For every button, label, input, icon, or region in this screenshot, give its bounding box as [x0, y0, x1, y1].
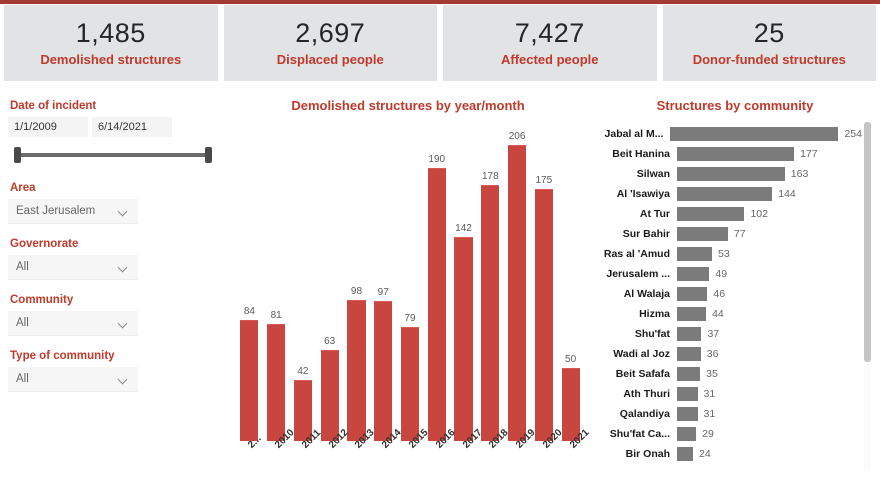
dropdown-type-of-community-value: All: [16, 373, 29, 385]
kpi-row: 1,485 Demolished structures 2,697 Displa…: [0, 5, 880, 81]
bar-value-label: 53: [718, 248, 730, 260]
dropdown-governorate-value: All: [16, 261, 29, 273]
dropdown-type-of-community[interactable]: All: [8, 367, 138, 392]
bar[interactable]: [677, 427, 696, 441]
bar-value-label: 178: [482, 171, 499, 182]
bar-column[interactable]: 206: [508, 131, 526, 441]
bar-value-label: 46: [713, 288, 725, 300]
chart-structures-by-community: Structures by community Jabal al M...254…: [590, 92, 880, 478]
bar-column[interactable]: 81: [267, 310, 285, 441]
community-bar-row[interactable]: Hizma44: [590, 304, 862, 324]
bar-column[interactable]: 42: [294, 366, 312, 441]
community-bar-wrap: 144: [677, 187, 862, 201]
community-bar-row[interactable]: Qalandiya31: [590, 404, 862, 424]
bar[interactable]: [677, 167, 785, 181]
community-name-label: Hizma: [590, 308, 677, 320]
bar[interactable]: [428, 168, 446, 441]
dropdown-area[interactable]: East Jerusalem: [8, 199, 138, 224]
slider-handle-end[interactable]: [205, 147, 212, 163]
bar[interactable]: [481, 185, 499, 441]
community-name-label: Ras al 'Amud: [590, 248, 677, 260]
chevron-down-icon: [118, 206, 129, 217]
chevron-down-icon: [118, 262, 129, 273]
bar-value-label: 190: [428, 154, 445, 165]
kpi-label: Donor-funded structures: [693, 52, 846, 67]
bar-value-label: 31: [704, 408, 716, 420]
bar[interactable]: [677, 147, 794, 161]
filter-group-type-of-community: Type of community All: [8, 350, 218, 392]
community-name-label: Ath Thuri: [590, 388, 677, 400]
filter-label-community: Community: [10, 294, 218, 306]
community-bar-list: Jabal al M...254Beit Hanina177Silwan163A…: [590, 124, 862, 464]
dropdown-community-value: All: [16, 317, 29, 329]
community-bar-row[interactable]: Shu'fat Ca...29: [590, 424, 862, 444]
dropdown-area-value: East Jerusalem: [16, 205, 95, 217]
community-name-label: Beit Hanina: [590, 148, 677, 160]
bar-column[interactable]: 84: [240, 306, 258, 441]
bar-column[interactable]: 79: [401, 313, 419, 441]
filter-group-governorate: Governorate All: [8, 238, 218, 280]
bar[interactable]: [677, 287, 707, 301]
community-bar-wrap: 37: [677, 327, 862, 341]
community-bar-row[interactable]: Ras al 'Amud53: [590, 244, 862, 264]
community-bar-wrap: 31: [677, 387, 862, 401]
community-bar-wrap: 163: [677, 167, 862, 181]
kpi-value: 25: [754, 19, 785, 49]
community-bar-wrap: 77: [677, 227, 862, 241]
community-name-label: Jabal al M...: [590, 128, 670, 140]
chart-title: Demolished structures by year/month: [228, 92, 588, 113]
bar-column[interactable]: 98: [347, 286, 365, 441]
community-bar-row[interactable]: At Tur102: [590, 204, 862, 224]
community-bar-wrap: 254: [670, 127, 862, 141]
community-bar-wrap: 53: [677, 247, 862, 261]
community-bar-row[interactable]: Al 'Isawiya144: [590, 184, 862, 204]
bar[interactable]: [670, 127, 838, 141]
slider-track: [18, 153, 208, 157]
bar[interactable]: [535, 189, 553, 441]
kpi-card-donor-funded-structures[interactable]: 25 Donor-funded structures: [663, 5, 877, 81]
bar-value-label: 77: [734, 228, 746, 240]
filter-group-community: Community All: [8, 294, 218, 336]
bar[interactable]: [677, 367, 700, 381]
bar-value-label: 97: [378, 287, 389, 298]
kpi-card-affected-people[interactable]: 7,427 Affected people: [443, 5, 657, 81]
bar[interactable]: [677, 227, 728, 241]
community-bar-wrap: 46: [677, 287, 862, 301]
bar-value-label: 42: [297, 366, 308, 377]
bar[interactable]: [374, 301, 392, 441]
bar[interactable]: [677, 327, 701, 341]
bar-value-label: 254: [844, 128, 862, 140]
community-bar-row[interactable]: Shu'fat37: [590, 324, 862, 344]
bar-column[interactable]: 142: [454, 223, 472, 441]
bar-value-label: 44: [712, 308, 724, 320]
community-bar-row[interactable]: Wadi al Joz36: [590, 344, 862, 364]
bar[interactable]: [677, 207, 744, 221]
bar-value-label: 50: [565, 354, 576, 365]
community-bar-wrap: 102: [677, 207, 862, 221]
community-bar-row[interactable]: Bir Onah24: [590, 444, 862, 464]
community-name-label: Jerusalem ...: [590, 268, 677, 280]
bar[interactable]: [562, 368, 580, 441]
kpi-label: Affected people: [501, 52, 599, 67]
bar[interactable]: [267, 324, 285, 441]
date-start-input[interactable]: [8, 117, 88, 137]
community-name-label: Silwan: [590, 168, 677, 180]
kpi-card-displaced-people[interactable]: 2,697 Displaced people: [224, 5, 438, 81]
bar-value-label: 144: [778, 188, 796, 200]
bar-value-label: 175: [535, 175, 552, 186]
kpi-label: Displaced people: [277, 52, 384, 67]
community-bar-wrap: 44: [677, 307, 862, 321]
kpi-value: 1,485: [76, 19, 146, 49]
chevron-down-icon: [118, 374, 129, 385]
bar-chart-plot-area: 8481426398977919014217820617550: [236, 128, 584, 441]
community-bar-row[interactable]: Jabal al M...254: [590, 124, 862, 144]
bar-value-label: 84: [244, 306, 255, 317]
bar-value-label: 29: [702, 428, 714, 440]
bar[interactable]: [677, 447, 693, 461]
bar[interactable]: [677, 347, 701, 361]
kpi-value: 7,427: [515, 19, 585, 49]
chart-title: Structures by community: [590, 92, 880, 113]
community-name-label: At Tur: [590, 208, 677, 220]
bar-value-label: 49: [715, 268, 727, 280]
kpi-value: 2,697: [295, 19, 365, 49]
community-scrollbar-thumb[interactable]: [864, 122, 871, 362]
bar-value-label: 102: [750, 208, 768, 220]
filter-label-date-of-incident: Date of incident: [10, 100, 218, 112]
community-name-label: Al Walaja: [590, 288, 677, 300]
community-bar-wrap: 177: [677, 147, 862, 161]
bar[interactable]: [321, 350, 339, 441]
kpi-label: Demolished structures: [40, 52, 181, 67]
community-bar-wrap: 24: [677, 447, 862, 461]
community-bar-wrap: 35: [677, 367, 862, 381]
date-range-inputs: [8, 117, 218, 137]
community-name-label: Sur Bahir: [590, 228, 677, 240]
kpi-card-demolished-structures[interactable]: 1,485 Demolished structures: [4, 5, 218, 81]
bar[interactable]: [677, 387, 698, 401]
chevron-down-icon: [118, 318, 129, 329]
bar-column[interactable]: 97: [374, 287, 392, 441]
community-bar-row[interactable]: Silwan163: [590, 164, 862, 184]
bar-column[interactable]: 190: [428, 154, 446, 441]
filter-label-type-of-community: Type of community: [10, 350, 218, 362]
bar-value-label: 31: [704, 388, 716, 400]
bar-value-label: 163: [791, 168, 809, 180]
community-name-label: Beit Safafa: [590, 368, 677, 380]
bar[interactable]: [677, 267, 709, 281]
community-scrollbar[interactable]: [864, 122, 871, 470]
bar-column[interactable]: 50: [562, 354, 580, 441]
bar-value-label: 142: [455, 223, 472, 234]
community-name-label: Shu'fat Ca...: [590, 428, 677, 440]
bar-value-label: 37: [707, 328, 719, 340]
bar-column[interactable]: 178: [481, 171, 499, 441]
bar-column[interactable]: 175: [535, 175, 553, 441]
community-bar-wrap: 31: [677, 407, 862, 421]
community-bar-row[interactable]: Sur Bahir77: [590, 224, 862, 244]
bar[interactable]: [677, 407, 698, 421]
bar-value-label: 24: [699, 448, 711, 460]
bar[interactable]: [677, 247, 712, 261]
bar-value-label: 35: [706, 368, 718, 380]
bar[interactable]: [677, 307, 706, 321]
slider-handle-start[interactable]: [14, 147, 21, 163]
bar-value-label: 36: [707, 348, 719, 360]
community-name-label: Shu'fat: [590, 328, 677, 340]
dropdown-governorate[interactable]: All: [8, 255, 138, 280]
community-name-label: Wadi al Joz: [590, 348, 677, 360]
chart-demolished-structures-by-year: Demolished structures by year/month 8481…: [228, 92, 588, 478]
bar-column[interactable]: 63: [321, 336, 339, 441]
filter-label-governorate: Governorate: [10, 238, 218, 250]
bar-value-label: 63: [324, 336, 335, 347]
filter-label-area: Area: [10, 182, 218, 194]
bar[interactable]: [347, 300, 365, 441]
bar-value-label: 206: [509, 131, 526, 142]
community-bar-wrap: 36: [677, 347, 862, 361]
bar[interactable]: [508, 145, 526, 441]
bar-value-label: 81: [271, 310, 282, 321]
community-bar-row[interactable]: Ath Thuri31: [590, 384, 862, 404]
community-bar-wrap: 29: [677, 427, 862, 441]
bar[interactable]: [401, 327, 419, 441]
community-bar-row[interactable]: Jerusalem ...49: [590, 264, 862, 284]
filter-group-area: Area East Jerusalem: [8, 182, 218, 224]
dropdown-community[interactable]: All: [8, 311, 138, 336]
bar-chart-x-axis: 2...201020112012201320142015201620172018…: [236, 441, 584, 481]
filter-panel: Date of incident Area East Jerusalem Gov…: [0, 92, 228, 478]
bar-value-label: 98: [351, 286, 362, 297]
community-bar-row[interactable]: Beit Hanina177: [590, 144, 862, 164]
bar-value-label: 177: [800, 148, 818, 160]
date-end-input[interactable]: [92, 117, 172, 137]
date-range-slider[interactable]: [12, 146, 214, 164]
bar[interactable]: [677, 187, 772, 201]
bar[interactable]: [240, 320, 258, 441]
community-bar-row[interactable]: Beit Safafa35: [590, 364, 862, 384]
community-name-label: Al 'Isawiya: [590, 188, 677, 200]
bar[interactable]: [454, 237, 472, 441]
community-name-label: Bir Onah: [590, 448, 677, 460]
community-bar-wrap: 49: [677, 267, 862, 281]
community-bar-row[interactable]: Al Walaja46: [590, 284, 862, 304]
top-accent-rule: [0, 0, 880, 4]
bar-value-label: 79: [404, 313, 415, 324]
community-name-label: Qalandiya: [590, 408, 677, 420]
